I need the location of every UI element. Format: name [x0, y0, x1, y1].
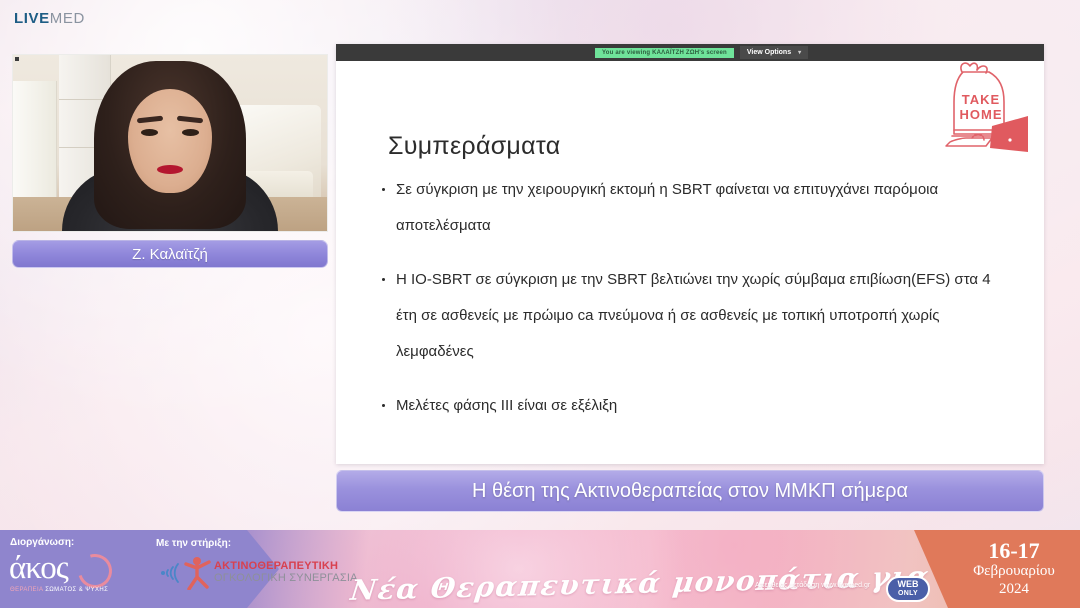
akos-tagline-a: ΘΕΡΑΠΕΙΑ	[10, 587, 43, 593]
supporter-logo: ΑΚΤΙΝΟΘΕΡΑΠΕΥΤΙΚΗ ΟΓΚΟΛΟΓΙΚΗ ΣΥΝΕΡΓΑΣΙΑ	[160, 556, 346, 590]
akos-tagline-b: ΣΩΜΑΤΟΣ & ΨΥΧΗΣ	[45, 587, 108, 593]
akos-logo: άκος ΘΕΡΑΠΕΙΑ ΣΩΜΑΤΟΣ & ΨΥΧΗΣ	[6, 550, 118, 600]
speaker-video-feed	[13, 55, 327, 231]
akos-tagline: ΘΕΡΑΠΕΙΑ ΣΩΜΑΤΟΣ & ΨΥΧΗΣ	[10, 587, 108, 593]
speaker-brow-right	[177, 116, 203, 124]
speaker-video-panel[interactable]	[12, 54, 328, 232]
list-item: Η IO-SBRT σε σύγκριση με την SBRT βελτιώ…	[382, 262, 1002, 370]
take-home-line1: TAKE	[950, 92, 1012, 107]
speaker-eye-left	[141, 129, 158, 136]
bullet-text: Σε σύγκριση με την χειρουργική εκτομή η …	[396, 181, 938, 234]
list-item: Μελέτες φάσης III είναι σε εξέλιξη	[382, 388, 1002, 424]
running-figure-icon	[182, 556, 212, 590]
event-footer-bar: Διοργάνωση: άκος ΘΕΡΑΠΕΙΑ ΣΩΜΑΤΟΣ & ΨΥΧΗ…	[0, 530, 1080, 608]
speaker-lips	[157, 165, 183, 174]
support-label: Με την στήριξη:	[156, 538, 231, 549]
event-date-days: 16-17	[988, 540, 1039, 562]
speaker-face	[128, 89, 212, 193]
list-item: Σε σύγκριση με την χειρουργική εκτομή η …	[382, 172, 1002, 244]
supporter-name: ΑΚΤΙΝΟΘΕΡΑΠΕΥΤΙΚΗ ΟΓΚΟΛΟΓΙΚΗ ΣΥΝΕΡΓΑΣΙΑ	[214, 560, 358, 585]
supporter-line-1: ΑΚΤΙΝΟΘΕΡΑΠΕΥΤΙΚΗ	[214, 560, 358, 572]
chevron-down-icon: ▾	[798, 50, 801, 56]
akos-wordmark: άκος	[9, 550, 68, 586]
bullet-dot-icon	[382, 278, 385, 281]
take-home-line2: HOME	[950, 107, 1012, 122]
session-title-text: Η θέση της Ακτινοθεραπείας στον ΜΜΚΠ σήμ…	[472, 480, 908, 503]
session-title-banner: Η θέση της Ακτινοθεραπείας στον ΜΜΚΠ σήμ…	[336, 470, 1044, 512]
screen-share-notice: You are viewing ΚΑΛΑΪΤΖΗ ΖΩΗ's screen	[595, 48, 734, 58]
shared-screen-slide[interactable]: You are viewing ΚΑΛΑΪΤΖΗ ΖΩΗ's screen Vi…	[336, 44, 1044, 464]
supporter-line-2: ΟΓΚΟΛΟΓΙΚΗ ΣΥΝΕΡΓΑΣΙΑ	[214, 572, 358, 585]
stream-note: Απευθείας μετάδοση www.livemed.gr	[755, 582, 870, 589]
zoom-share-toolbar: You are viewing ΚΑΛΑΪΤΖΗ ΖΩΗ's screen Vi…	[336, 44, 1044, 61]
organizer-label: Διοργάνωση:	[10, 537, 74, 548]
take-home-illustration: TAKE HOME	[932, 54, 1030, 162]
event-date-year: 2024	[999, 581, 1029, 598]
speaker-eye-right	[182, 129, 199, 136]
speaker-brow-left	[137, 116, 163, 124]
livemed-logo: LIVEMED	[14, 10, 85, 27]
speaker-name-label: Ζ. Καλαϊτζή	[132, 246, 208, 263]
video-corner-marker	[15, 57, 19, 61]
signal-waves-icon	[160, 560, 182, 586]
bullet-text: Η IO-SBRT σε σύγκριση με την SBRT βελτιώ…	[396, 271, 991, 360]
bullet-text: Μελέτες φάσης III είναι σε εξέλιξη	[396, 397, 617, 414]
view-options-label: View Options	[747, 49, 791, 56]
bullet-dot-icon	[382, 404, 385, 407]
slide-bullet-list: Σε σύγκριση με την χειρουργική εκτομή η …	[382, 172, 1002, 442]
take-home-text: TAKE HOME	[950, 92, 1012, 122]
logo-med-text: MED	[50, 10, 85, 27]
event-date-month: Φεβρουαρίου	[973, 562, 1055, 581]
bullet-dot-icon	[382, 188, 385, 191]
view-options-button[interactable]: View Options ▾	[740, 46, 808, 59]
speaker-name-bar: Ζ. Καλαϊτζή	[12, 240, 328, 268]
broadcast-stage: LIVEMED Ζ. Καλαϊτζή You are viewing	[0, 0, 1080, 608]
logo-live-text: LIVE	[14, 10, 50, 27]
slide-title: Συμπεράσματα	[388, 132, 560, 161]
event-date-block: 16-17 Φεβρουαρίου 2024	[948, 530, 1080, 608]
background-panel	[13, 81, 57, 197]
